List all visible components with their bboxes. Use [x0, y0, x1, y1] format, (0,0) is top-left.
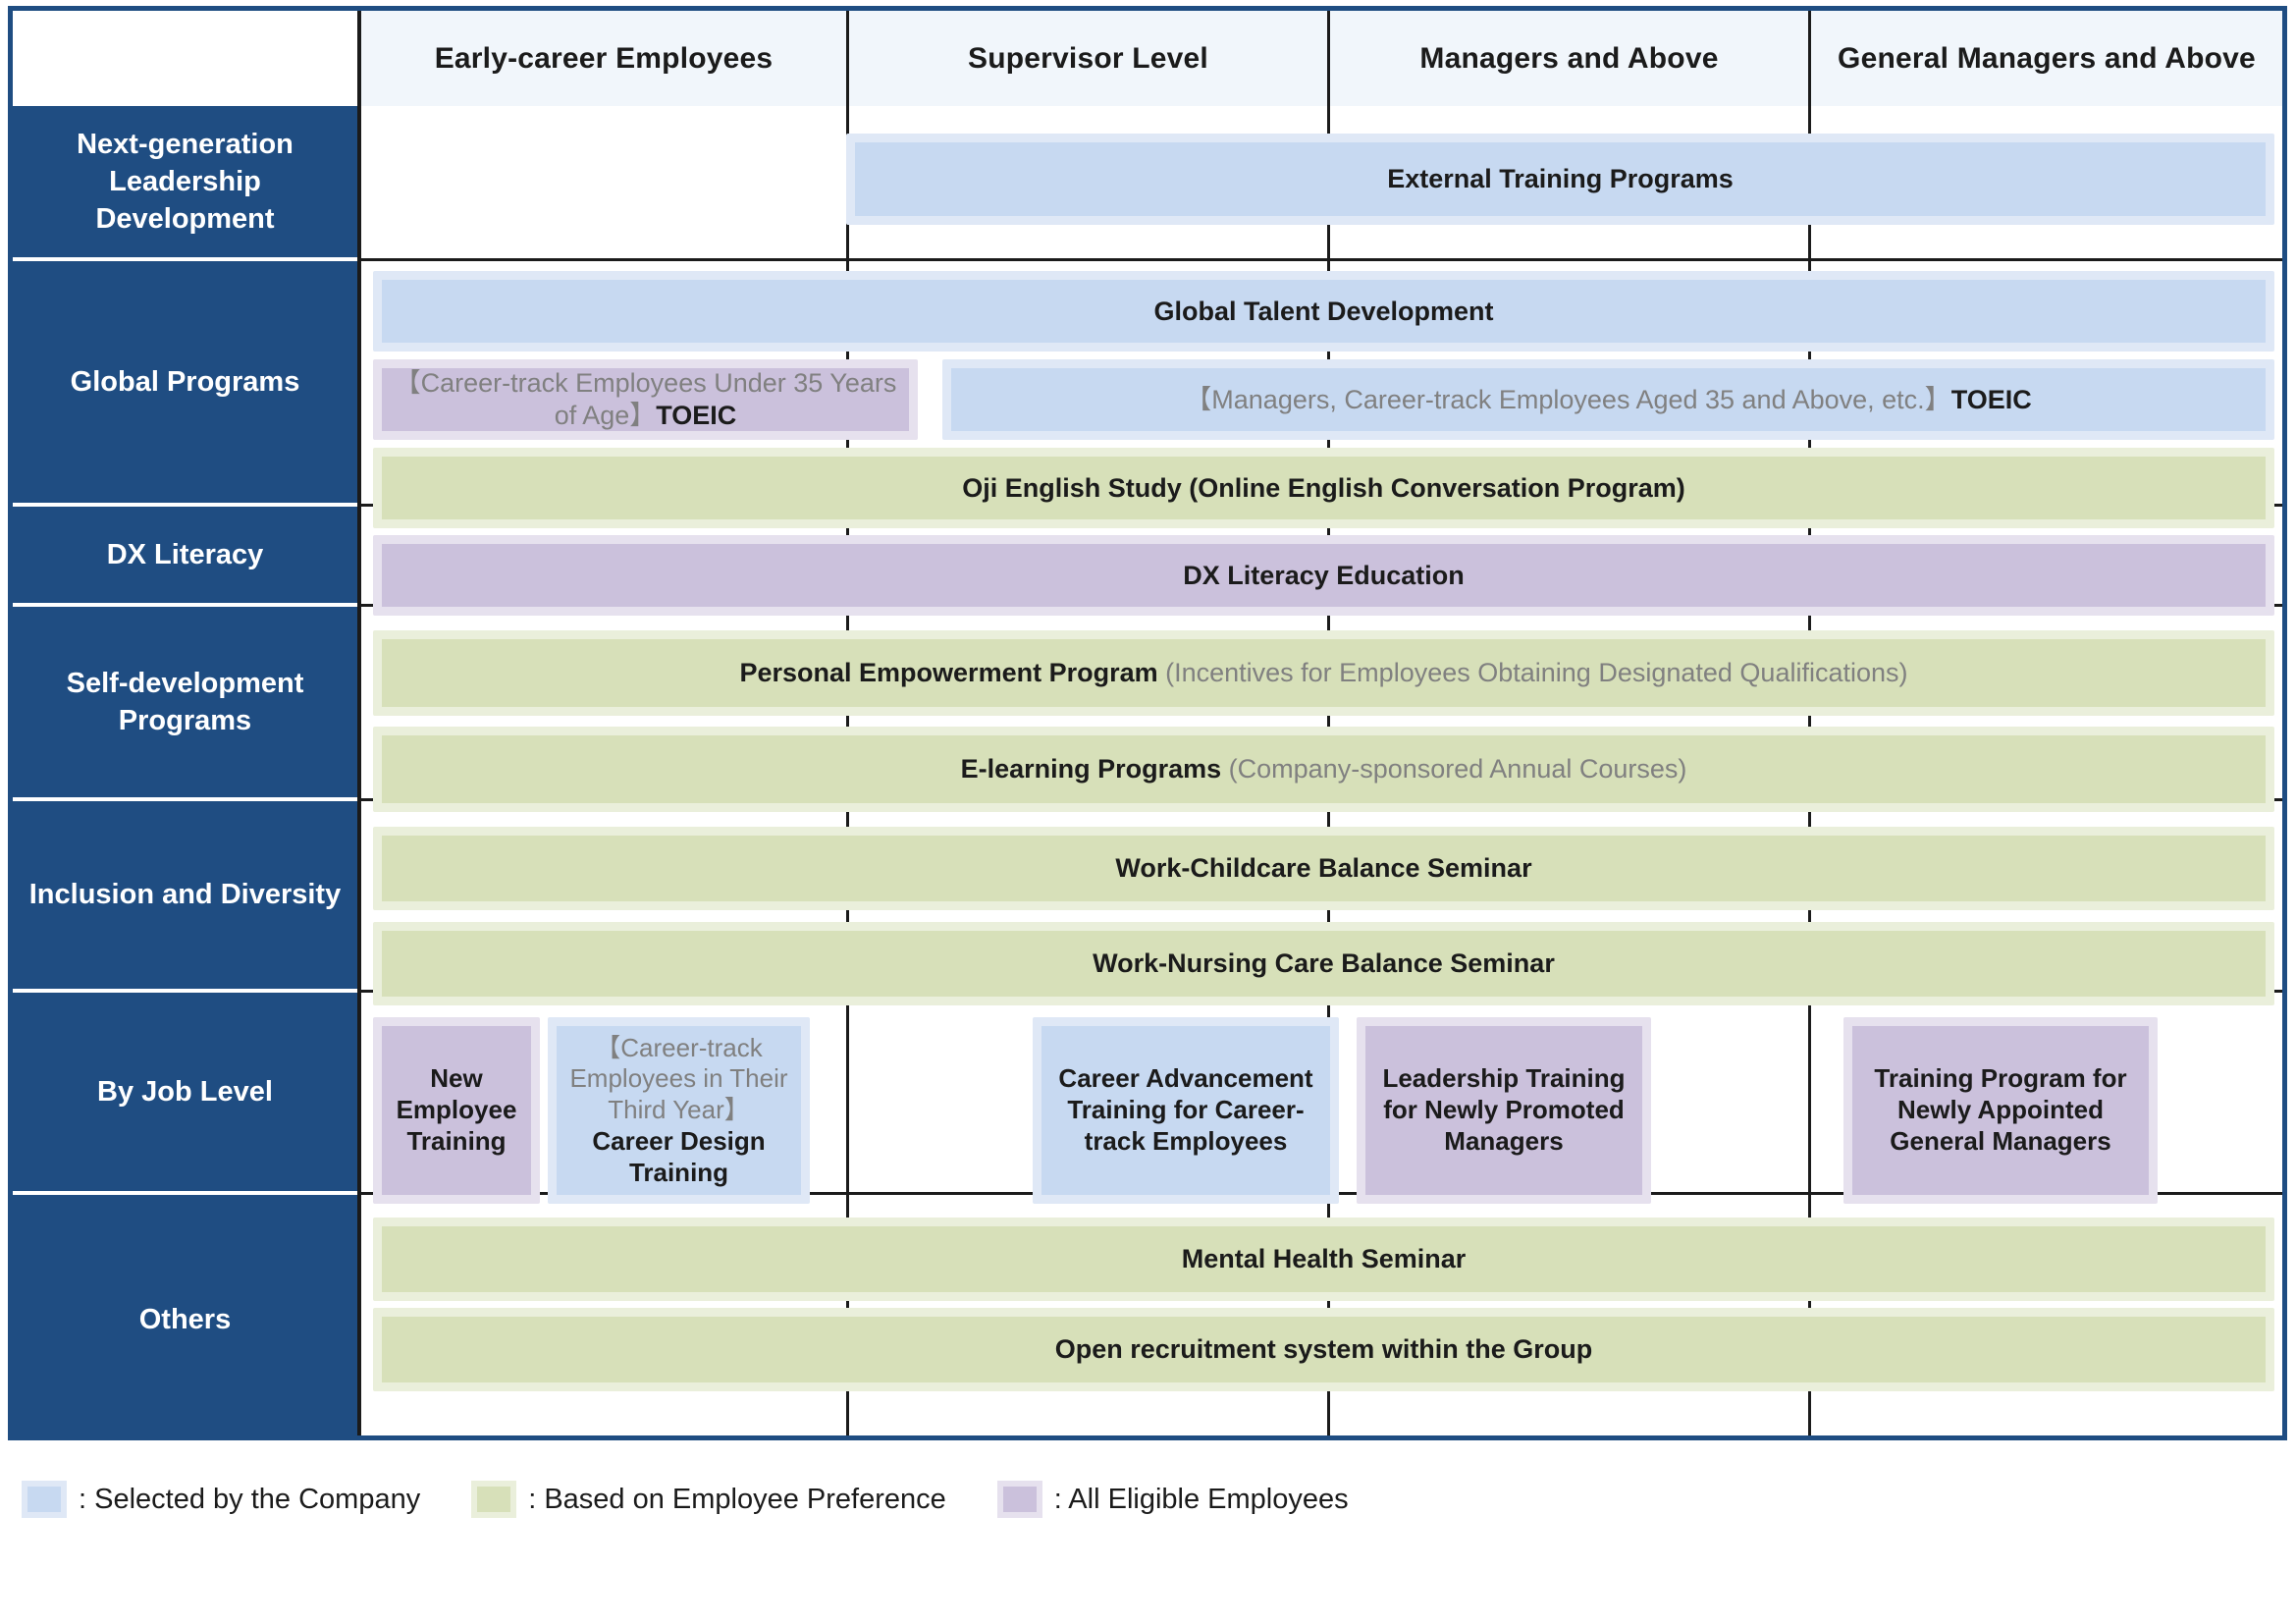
legend-swatch-blue [22, 1481, 67, 1518]
program-grid: External Training Programs Global Talent… [361, 106, 2282, 1435]
column-header-managers: Managers and Above [1330, 11, 1811, 106]
program-leadership-newly-promoted-managers: Leadership Training for Newly Promoted M… [1357, 1017, 1651, 1204]
personal-empowerment-note: (Incentives for Employees Obtaining Desi… [1165, 658, 1907, 687]
program-external-training: External Training Programs [846, 134, 2274, 225]
column-header-supervisor: Supervisor Level [849, 11, 1330, 106]
program-toeic-under-35: 【Career-track Employees Under 35 Years o… [373, 359, 918, 440]
program-global-talent-development: Global Talent Development [373, 271, 2274, 352]
training-program-matrix: Early-career Employees Supervisor Level … [0, 0, 2296, 1624]
legend-item-all-eligible: : All Eligible Employees [997, 1481, 1349, 1518]
program-new-employee-training: New Employee Training [373, 1017, 540, 1204]
program-work-childcare-balance: Work-Childcare Balance Seminar [373, 827, 2274, 910]
career-design-eligibility: 【Career-track Employees in Their Third Y… [564, 1033, 793, 1126]
program-dx-literacy-education: DX Literacy Education [373, 535, 2274, 616]
program-open-recruitment-system: Open recruitment system within the Group [373, 1308, 2274, 1391]
elearning-note: (Company-sponsored Annual Courses) [1229, 754, 1687, 784]
toeic-35-above-label: TOEIC [1951, 385, 2032, 414]
program-toeic-35-and-above: 【Managers, Career-track Employees Aged 3… [942, 359, 2274, 440]
category-global-programs: Global Programs [13, 261, 357, 507]
career-design-label: Career Design Training [564, 1126, 793, 1188]
legend-swatch-green [471, 1481, 516, 1518]
program-career-advancement-training: Career Advancement Training for Career-t… [1033, 1017, 1339, 1204]
category-others: Others [13, 1195, 357, 1445]
legend-swatch-purple [997, 1481, 1042, 1518]
program-work-nursing-balance: Work-Nursing Care Balance Seminar [373, 922, 2274, 1005]
program-career-design-training: 【Career-track Employees in Their Third Y… [548, 1017, 810, 1204]
category-inclusion-diversity: Inclusion and Diversity [13, 801, 357, 993]
elearning-label: E-learning Programs [961, 754, 1229, 784]
legend-label-all-eligible: : All Eligible Employees [1054, 1484, 1349, 1516]
personal-empowerment-label: Personal Empowerment Program [739, 658, 1165, 687]
program-mental-health-seminar: Mental Health Seminar [373, 1218, 2274, 1301]
category-by-job-level: By Job Level [13, 993, 357, 1195]
program-oji-english-study: Oji English Study (Online English Conver… [373, 448, 2274, 528]
toeic-under-35-prefix: 【Career-track Employees Under 35 Years o… [395, 368, 897, 430]
toeic-35-above-prefix: 【Managers, Career-track Employees Aged 3… [1185, 385, 1950, 414]
program-elearning: E-learning Programs (Company-sponsored A… [373, 727, 2274, 812]
column-header-general-managers: General Managers and Above [1811, 11, 2282, 106]
column-header-row: Early-career Employees Supervisor Level … [13, 11, 2282, 106]
category-dx-literacy: DX Literacy [13, 507, 357, 607]
legend: : Selected by the Company : Based on Emp… [22, 1470, 1400, 1529]
matrix-table: Early-career Employees Supervisor Level … [8, 6, 2287, 1440]
toeic-under-35-label: TOEIC [656, 401, 736, 430]
legend-item-selected-by-company: : Selected by the Company [22, 1481, 420, 1518]
legend-label-employee-preference: : Based on Employee Preference [528, 1484, 946, 1516]
row-divider-1 [361, 258, 2282, 261]
program-newly-appointed-general-managers: Training Program for Newly Appointed Gen… [1843, 1017, 2158, 1204]
legend-label-selected-by-company: : Selected by the Company [79, 1484, 420, 1516]
category-column: Next-generation Leadership Development G… [13, 106, 361, 1435]
matrix-body: Next-generation Leadership Development G… [13, 106, 2282, 1435]
legend-item-employee-preference: : Based on Employee Preference [471, 1481, 946, 1518]
header-corner-blank [13, 11, 361, 106]
category-self-development: Self-development Programs [13, 607, 357, 801]
program-personal-empowerment: Personal Empowerment Program (Incentives… [373, 630, 2274, 716]
column-header-early-career: Early-career Employees [361, 11, 849, 106]
category-next-gen-leadership: Next-generation Leadership Development [13, 106, 357, 261]
